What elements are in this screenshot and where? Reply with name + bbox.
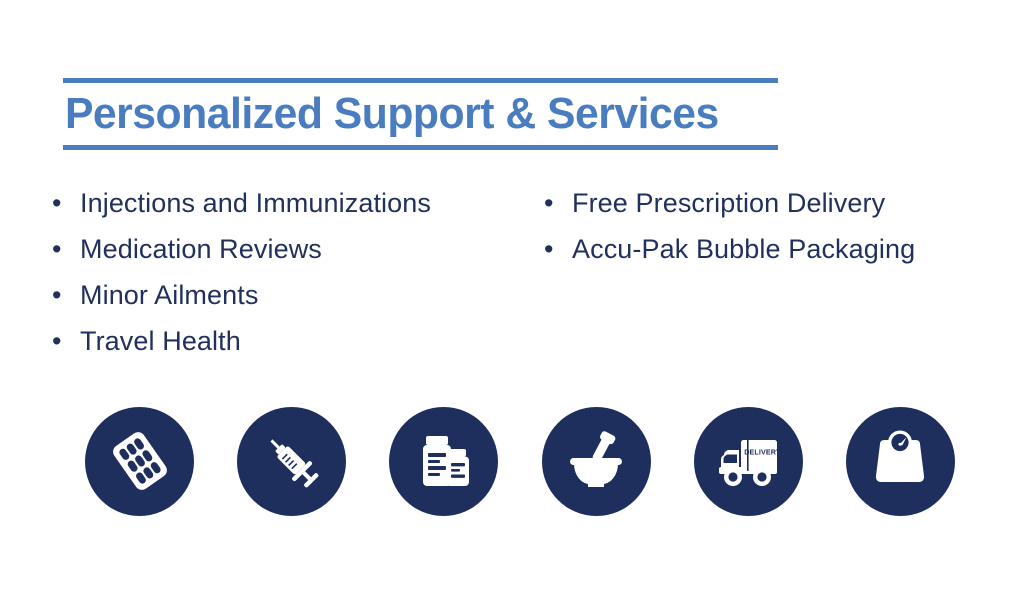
title-rule-bottom [63, 145, 778, 150]
list-item: • Medication Reviews [52, 226, 544, 272]
list-item: • Travel Health [52, 318, 544, 364]
icon-badge-mortar-pestle [542, 407, 651, 516]
services-bullet-columns: • Injections and Immunizations • Medicat… [52, 180, 1002, 364]
bullet-label: Injections and Immunizations [80, 180, 431, 226]
slide-canvas: Personalized Support & Services • Inject… [0, 0, 1025, 590]
bullet-label: Minor Ailments [80, 272, 258, 318]
pill-bottles-icon [412, 429, 476, 493]
syringe-icon [260, 429, 324, 493]
bullet-dot-icon: • [52, 318, 80, 364]
icon-badge-syringe [237, 407, 346, 516]
list-item: • Free Prescription Delivery [544, 180, 1002, 226]
bullet-label: Medication Reviews [80, 226, 322, 272]
bullet-list-right: • Free Prescription Delivery • Accu-Pak … [544, 180, 1002, 272]
service-icon-row: DELIVERY [85, 406, 955, 516]
bullet-label: Accu-Pak Bubble Packaging [572, 226, 915, 272]
list-item: • Minor Ailments [52, 272, 544, 318]
bullet-label: Travel Health [80, 318, 241, 364]
delivery-truck-icon: DELIVERY [714, 427, 782, 495]
weight-scale-icon [869, 430, 931, 492]
list-item: • Accu-Pak Bubble Packaging [544, 226, 1002, 272]
bullet-dot-icon: • [544, 226, 572, 272]
mortar-pestle-icon [563, 428, 629, 494]
page-title: Personalized Support & Services [63, 83, 757, 145]
bullet-list-left: • Injections and Immunizations • Medicat… [52, 180, 544, 364]
icon-badge-pill-bottles [389, 407, 498, 516]
icon-badge-blister-pack [85, 407, 194, 516]
icon-badge-weight-scale [846, 407, 955, 516]
bullet-column-right: • Free Prescription Delivery • Accu-Pak … [544, 180, 1002, 272]
title-block: Personalized Support & Services [63, 78, 778, 150]
icon-badge-delivery-truck: DELIVERY [694, 407, 803, 516]
blister-pack-icon [108, 429, 172, 493]
bullet-label: Free Prescription Delivery [572, 180, 885, 226]
truck-delivery-label: DELIVERY [745, 448, 782, 457]
bullet-dot-icon: • [52, 272, 80, 318]
bullet-dot-icon: • [52, 226, 80, 272]
bullet-dot-icon: • [52, 180, 80, 226]
list-item: • Injections and Immunizations [52, 180, 544, 226]
bullet-column-left: • Injections and Immunizations • Medicat… [52, 180, 544, 364]
bullet-dot-icon: • [544, 180, 572, 226]
